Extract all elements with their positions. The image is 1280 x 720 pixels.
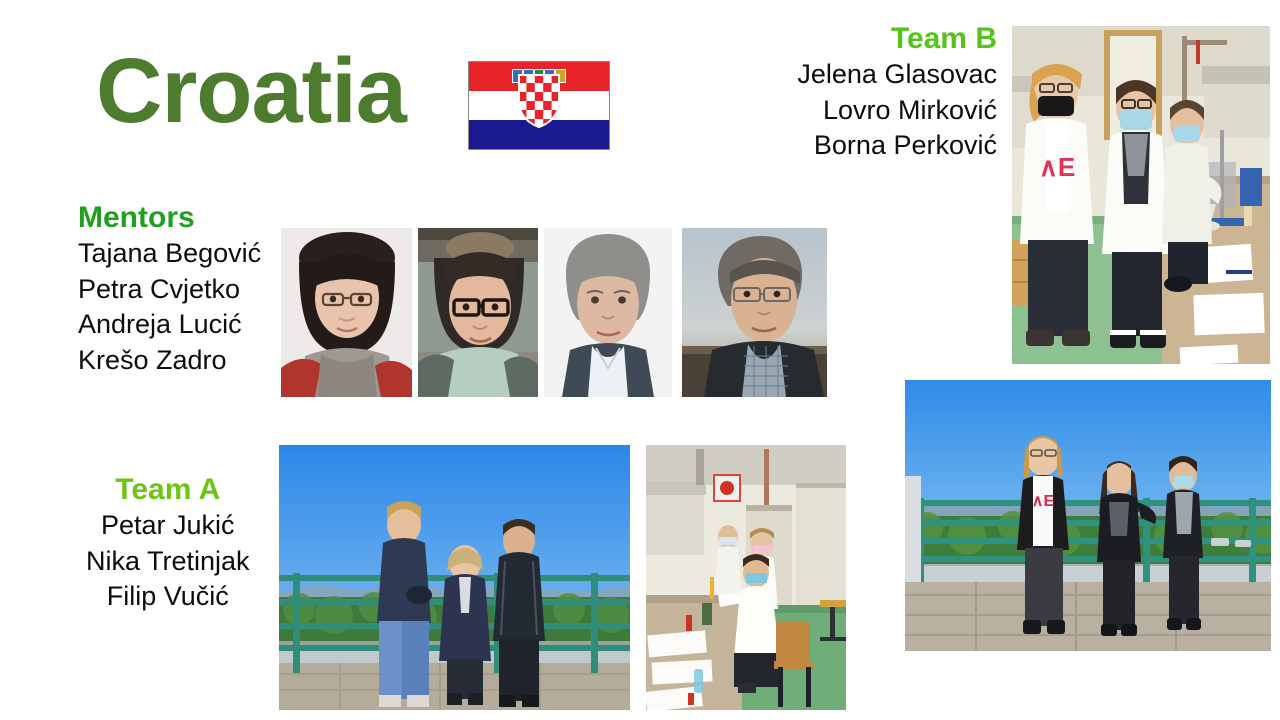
team-a-section: Team A Petar Jukić Nika Tretinjak Filip …: [86, 473, 250, 615]
croatia-flag-image: [468, 61, 610, 150]
mentor-name: Petra Cvjetko: [78, 272, 261, 308]
mentor-portrait-photo: [682, 228, 827, 397]
mentor-name: Tajana Begović: [78, 236, 261, 272]
team-b-member-name: Jelena Glasovac: [797, 57, 997, 93]
mentors-section: Mentors Tajana Begović Petra Cvjetko And…: [78, 201, 261, 379]
flag-coat-of-arms-icon: [518, 74, 560, 128]
team-a-member-name: Filip Vučić: [86, 579, 250, 615]
team-b-heading: Team B: [797, 22, 997, 55]
team-a-laboratory-photo: [646, 445, 846, 710]
svg-text:∧E: ∧E: [1032, 493, 1055, 510]
presentation-slide: Croatia: [0, 0, 1280, 720]
mentor-portrait-photo: [418, 228, 538, 397]
team-b-member-name: Borna Perković: [797, 128, 997, 164]
team-b-laboratory-photo: ∧E: [1012, 26, 1270, 364]
mentor-name: Krešo Zadro: [78, 343, 261, 379]
mentors-heading: Mentors: [78, 201, 261, 234]
team-a-rooftop-photo: [279, 445, 630, 710]
team-b-rooftop-photo: ∧E: [905, 380, 1271, 651]
svg-text:∧E: ∧E: [1039, 152, 1075, 182]
mentor-name: Andreja Lucić: [78, 307, 261, 343]
mentor-portrait-photo: [544, 228, 672, 397]
team-a-member-name: Nika Tretinjak: [86, 544, 250, 580]
team-a-heading: Team A: [86, 473, 250, 506]
mentor-portrait-photo: [281, 228, 412, 397]
team-a-member-name: Petar Jukić: [86, 508, 250, 544]
team-b-member-name: Lovro Mirković: [797, 93, 997, 129]
team-b-section: Team B Jelena Glasovac Lovro Mirković Bo…: [797, 22, 997, 164]
page-title: Croatia: [96, 43, 406, 140]
